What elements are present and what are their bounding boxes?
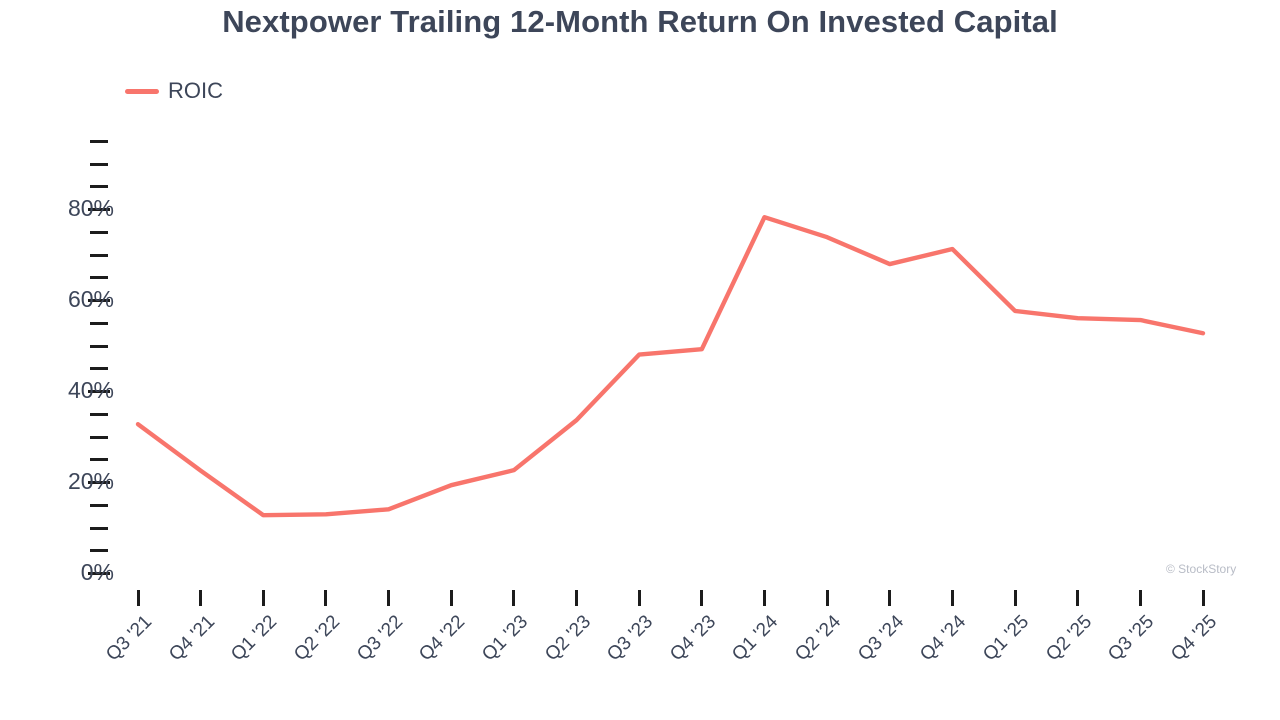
chart-container: Nextpower Trailing 12-Month Return On In… (0, 0, 1280, 720)
roic-line (138, 217, 1203, 515)
stockstory-watermark: © StockStory (1166, 562, 1236, 576)
plot-area: 0%20%40%60%80% Q3 '21Q4 '21Q1 '22Q2 '22Q… (0, 0, 1280, 720)
series-line-roic (0, 0, 1280, 720)
